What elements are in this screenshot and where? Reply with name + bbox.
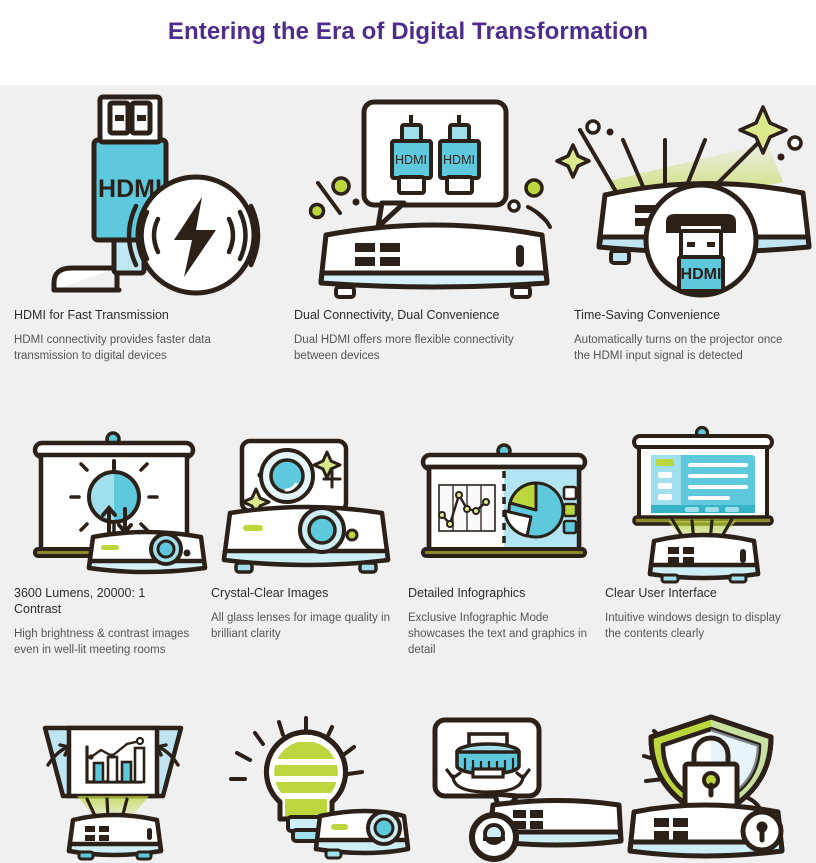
- feature-card-dual-connectivity[interactable]: HDMI HDMI: [294, 85, 574, 425]
- keystone-correction-chart-icon: [14, 700, 211, 863]
- feature-title: Detailed Infographics: [408, 585, 589, 601]
- feature-card-security-lock[interactable]: [605, 700, 802, 863]
- feature-caption: Dual Connectivity, Dual Convenience Dual…: [294, 307, 574, 364]
- feature-title: Clear User Interface: [605, 585, 786, 601]
- screen-charts-icon: [408, 425, 605, 585]
- feature-description: Dual HDMI offers more flexible connectiv…: [294, 332, 558, 364]
- feature-caption: HDMI for Fast Transmission HDMI connecti…: [14, 307, 294, 364]
- feature-caption: 3600 Lumens, 20000: 1 Contrast High brig…: [14, 585, 211, 658]
- feature-row-1: HDMI: [14, 85, 802, 425]
- feature-row-3: [14, 700, 802, 863]
- hdmi-label: HDMI: [681, 266, 722, 283]
- hdmi-label-1: HDMI: [395, 153, 427, 167]
- feature-grid-page: Entering the Era of Digital Transformati…: [0, 0, 816, 863]
- feature-card-lumens-contrast[interactable]: 3600 Lumens, 20000: 1 Contrast High brig…: [14, 425, 211, 700]
- features-content: HDMI: [0, 85, 816, 863]
- feature-card-hdmi-fast-transmission[interactable]: HDMI: [14, 85, 294, 425]
- hdmi-cable-lightning-icon: HDMI: [14, 85, 294, 307]
- feature-caption: Crystal-Clear Images All glass lenses fo…: [211, 585, 408, 642]
- hdmi-label-2: HDMI: [443, 153, 475, 167]
- feature-title: Time-Saving Convenience: [574, 307, 786, 323]
- screen-brightness-contrast-icon: [14, 425, 211, 585]
- projector-autostart-hdmi-icon: HDMI: [574, 85, 802, 307]
- feature-title: HDMI for Fast Transmission: [14, 307, 278, 323]
- feature-title: Dual Connectivity, Dual Convenience: [294, 307, 558, 323]
- feature-description: High brightness & contrast images even i…: [14, 626, 195, 658]
- feature-description: Intuitive windows design to display the …: [605, 610, 786, 642]
- feature-card-detailed-infographics[interactable]: Detailed Infographics Exclusive Infograp…: [408, 425, 605, 700]
- page-title: Entering the Era of Digital Transformati…: [168, 18, 648, 46]
- feature-card-keystone-correction[interactable]: [14, 700, 211, 863]
- feature-caption: Detailed Infographics Exclusive Infograp…: [408, 585, 605, 658]
- lightbulb-projector-icon: [211, 700, 408, 863]
- page-header: Entering the Era of Digital Transformati…: [0, 0, 816, 85]
- feature-description: Exclusive Infographic Mode showcases the…: [408, 610, 589, 658]
- projector-dual-hdmi-icon: HDMI HDMI: [294, 85, 574, 307]
- feature-card-crystal-clear-images[interactable]: Crystal-Clear Images All glass lenses fo…: [211, 425, 408, 700]
- feature-card-time-saving-convenience[interactable]: HDMI Time-Saving Convenience Automatical…: [574, 85, 802, 425]
- feature-title: 3600 Lumens, 20000: 1 Contrast: [14, 585, 195, 617]
- shield-padlock-icon: [605, 700, 802, 863]
- feature-caption: Time-Saving Convenience Automatically tu…: [574, 307, 802, 364]
- feature-description: All glass lenses for image quality in br…: [211, 610, 392, 642]
- feature-card-lamp-brightness[interactable]: [211, 700, 408, 863]
- projector-lens-sparkle-icon: [211, 425, 408, 585]
- feature-title: Crystal-Clear Images: [211, 585, 392, 601]
- screen-ui-window-icon: [605, 425, 802, 585]
- focus-dial-icon: [408, 700, 605, 863]
- feature-description: HDMI connectivity provides faster data t…: [14, 332, 278, 364]
- feature-description: Automatically turns on the projector onc…: [574, 332, 786, 364]
- feature-card-clear-user-interface[interactable]: Clear User Interface Intuitive windows d…: [605, 425, 802, 700]
- feature-caption: Clear User Interface Intuitive windows d…: [605, 585, 802, 642]
- feature-row-2: 3600 Lumens, 20000: 1 Contrast High brig…: [14, 425, 802, 700]
- feature-card-focus-ring[interactable]: [408, 700, 605, 863]
